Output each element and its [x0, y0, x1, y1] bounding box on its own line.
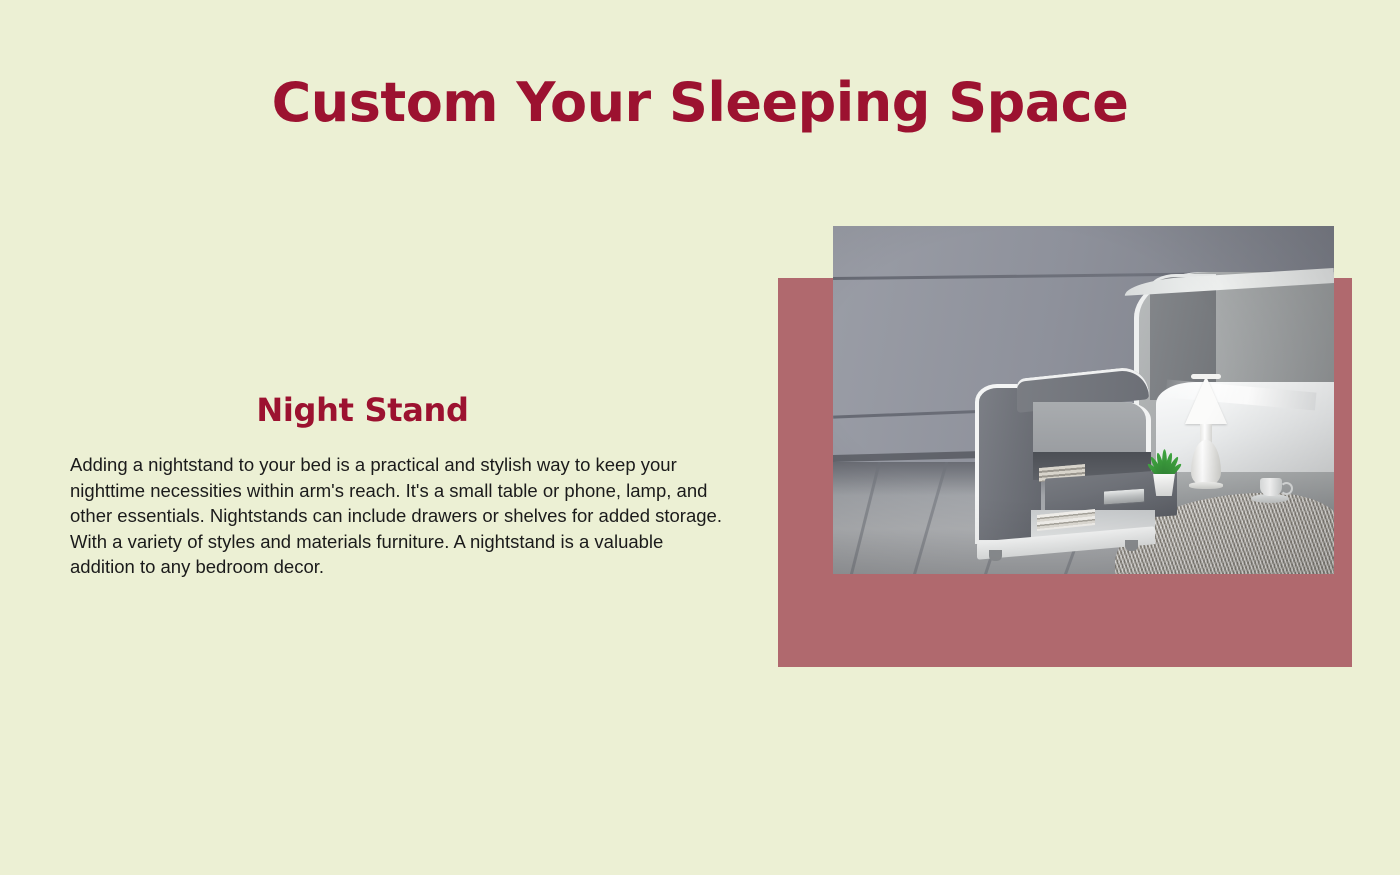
body-paragraph: Adding a nightstand to your bed is a pra…: [70, 452, 730, 580]
photo-vignette: [833, 226, 1334, 574]
bedroom-scene: [833, 226, 1334, 574]
section-heading: Night Stand: [70, 390, 730, 430]
slide-canvas: Custom Your Sleeping Space Night Stand A…: [0, 0, 1400, 875]
text-column: Night Stand Adding a nightstand to your …: [70, 390, 730, 580]
bedroom-photo: [833, 226, 1334, 574]
page-title: Custom Your Sleeping Space: [0, 72, 1400, 134]
